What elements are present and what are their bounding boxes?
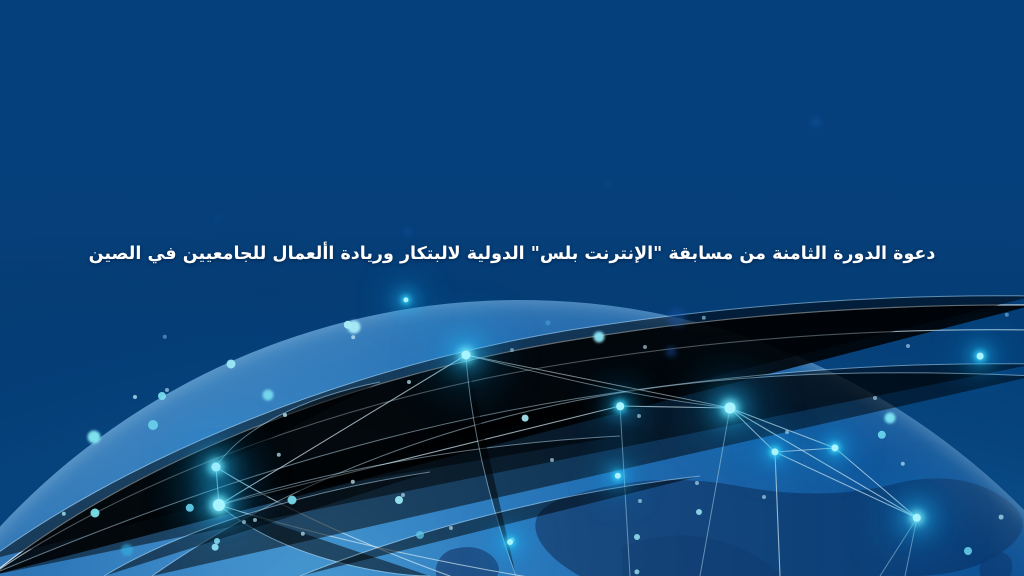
- bokeh-dot: [873, 396, 877, 400]
- bokeh-dot: [227, 360, 236, 369]
- slide-title: دعوة الدورة الثامنة من مسابقة "الإنترنت …: [89, 243, 936, 267]
- bokeh-dot: [906, 344, 910, 348]
- bokeh-dot: [695, 481, 699, 485]
- bokeh-dot: [668, 309, 686, 327]
- bokeh-dot: [638, 499, 642, 503]
- bokeh-dot: [637, 414, 641, 418]
- bokeh-dot: [351, 335, 355, 339]
- bokeh-dot: [999, 515, 1004, 520]
- bokeh-dot: [158, 392, 166, 400]
- network-node: [462, 351, 471, 360]
- bokeh-dot: [510, 348, 514, 352]
- bokeh-dot: [785, 430, 789, 434]
- network-node: [977, 353, 984, 360]
- bokeh-dot: [91, 509, 100, 518]
- bokeh-dot: [88, 431, 101, 444]
- network-node: [212, 463, 221, 472]
- bokeh-dot: [449, 526, 453, 530]
- bokeh-dot: [964, 547, 972, 555]
- network-node: [725, 403, 736, 414]
- presentation-slide: دعوة الدورة الثامنة من مسابقة "الإنترنت …: [0, 0, 1024, 576]
- bokeh-dot: [263, 390, 274, 401]
- bokeh-dot: [283, 413, 287, 417]
- bokeh-dot: [401, 493, 405, 497]
- bokeh-dot: [148, 420, 158, 430]
- bokeh-dot: [812, 118, 820, 126]
- bokeh-dot: [242, 520, 246, 524]
- bokeh-dot: [522, 415, 529, 422]
- bokeh-dot: [133, 395, 137, 399]
- bokeh-dot: [762, 495, 766, 499]
- bokeh-dot: [214, 538, 220, 544]
- network-node: [507, 539, 513, 545]
- bokeh-dot: [416, 531, 424, 539]
- bokeh-dot: [288, 496, 297, 505]
- bokeh-dot: [212, 544, 219, 551]
- bokeh-dot: [395, 496, 403, 504]
- network-node: [616, 402, 624, 410]
- bokeh-dot: [215, 215, 221, 221]
- bokeh-dot: [594, 332, 605, 343]
- network-node: [213, 499, 225, 511]
- bokeh-dot: [165, 388, 169, 392]
- bokeh-dot: [643, 345, 647, 349]
- bokeh-dot: [348, 321, 361, 334]
- network-connection-lines: [0, 0, 1024, 576]
- title-block: دعوة الدورة الثامنة من مسابقة "الإنترنت …: [0, 243, 1024, 267]
- bokeh-dot: [666, 347, 676, 357]
- bokeh-dot: [696, 509, 702, 515]
- bokeh-dot: [634, 534, 640, 540]
- bokeh-dot: [121, 544, 133, 556]
- bokeh-dot: [407, 380, 411, 384]
- bokeh-dot: [404, 228, 412, 236]
- bokeh-dot: [253, 518, 257, 522]
- bokeh-dot: [885, 413, 896, 424]
- bokeh-dot: [550, 458, 554, 462]
